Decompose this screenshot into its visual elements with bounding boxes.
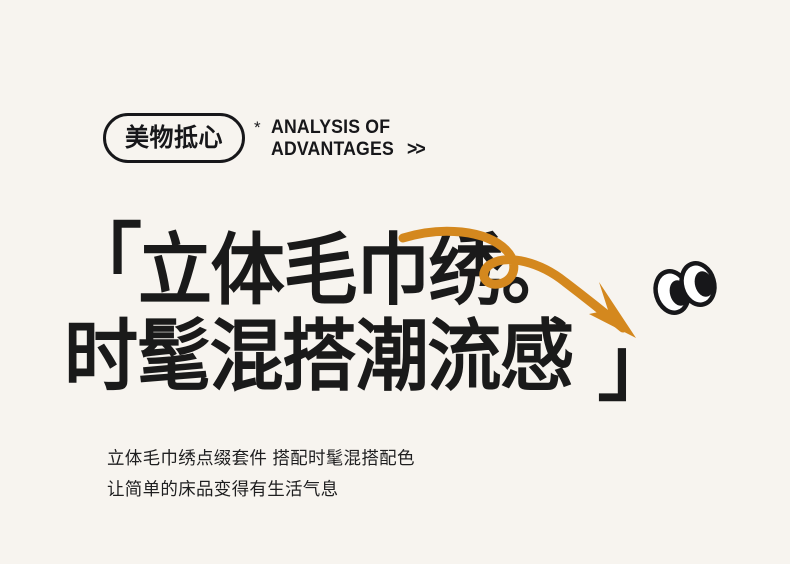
headline-line-2: 时髦混搭潮流感 」 <box>64 314 676 400</box>
eyebrow-english-block: ANALYSIS OF ADVANTAGES>> <box>271 117 435 161</box>
subtitle-line-2: 让简单的床品变得有生活气息 <box>107 474 415 505</box>
eyebrow-english-line-2-text: ADVANTAGES <box>271 139 394 160</box>
eye-right <box>677 259 719 308</box>
eyebrow-english-line-2: ADVANTAGES>> <box>271 139 424 161</box>
asterisk-icon: * <box>254 119 261 136</box>
headline-text-line-2: 时髦混搭潮流感 <box>64 314 573 398</box>
headline-line-1: 「 立体毛巾绣。 <box>64 228 676 314</box>
badge-pill: 美物抵心 <box>103 113 245 163</box>
badge-pill-label: 美物抵心 <box>125 126 223 151</box>
chevron-right-double-icon: >> <box>407 139 424 160</box>
page-title: 「 立体毛巾绣。 时髦混搭潮流感 」 <box>64 228 676 400</box>
bracket-open-mark: 「 <box>64 227 142 294</box>
eyebrow-row: 美物抵心 * ANALYSIS OF ADVANTAGES>> <box>103 113 435 163</box>
bracket-close-mark: 」 <box>598 314 676 418</box>
eyebrow-english-line-1: ANALYSIS OF <box>271 117 424 139</box>
subtitle-block: 立体毛巾绣点缀套件 搭配时髦混搭配色 让简单的床品变得有生活气息 <box>107 443 415 505</box>
subtitle-line-1: 立体毛巾绣点缀套件 搭配时髦混搭配色 <box>107 443 415 474</box>
headline-text-line-1: 立体毛巾绣。 <box>138 228 574 312</box>
poster-canvas: 美物抵心 * ANALYSIS OF ADVANTAGES>> 「 立体毛巾绣。… <box>0 0 790 564</box>
